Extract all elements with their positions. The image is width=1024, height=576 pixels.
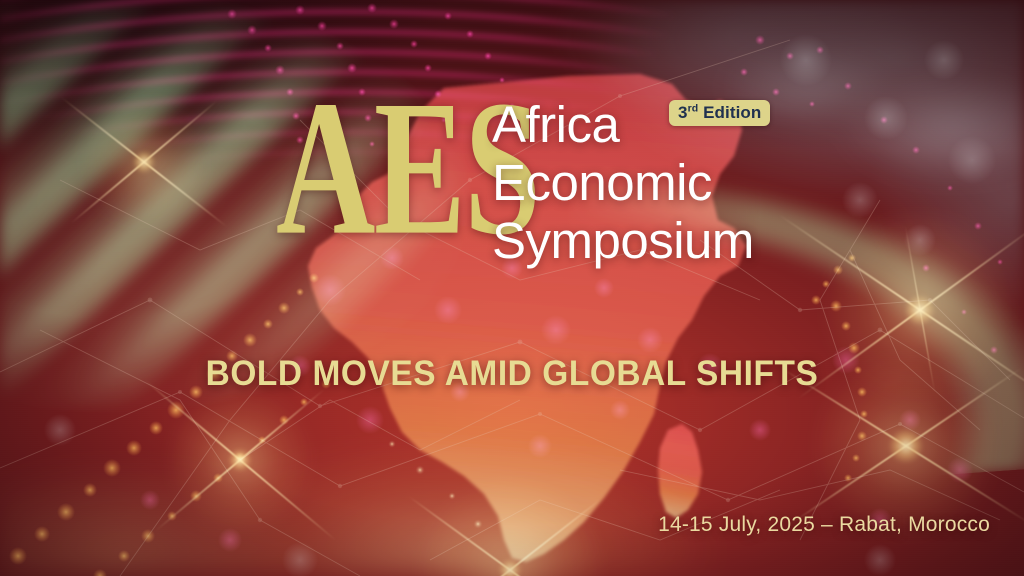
event-banner: AES Africa Economic Symposium 3rd Editio… — [0, 0, 1024, 576]
edition-badge: 3rd Edition — [669, 100, 770, 126]
edition-label: Edition — [703, 103, 761, 122]
edition-number: 3 — [678, 103, 688, 122]
tagline: BOLD MOVES AMID GLOBAL SHIFTS — [23, 354, 1001, 394]
banner-content: AES Africa Economic Symposium 3rd Editio… — [0, 0, 1024, 576]
event-details: 14-15 July, 2025 – Rabat, Morocco — [658, 513, 990, 537]
wordmark-line-3: Symposium — [492, 212, 754, 270]
wordmark-line-2: Economic — [492, 154, 754, 212]
edition-ordinal-suffix: rd — [688, 102, 699, 114]
